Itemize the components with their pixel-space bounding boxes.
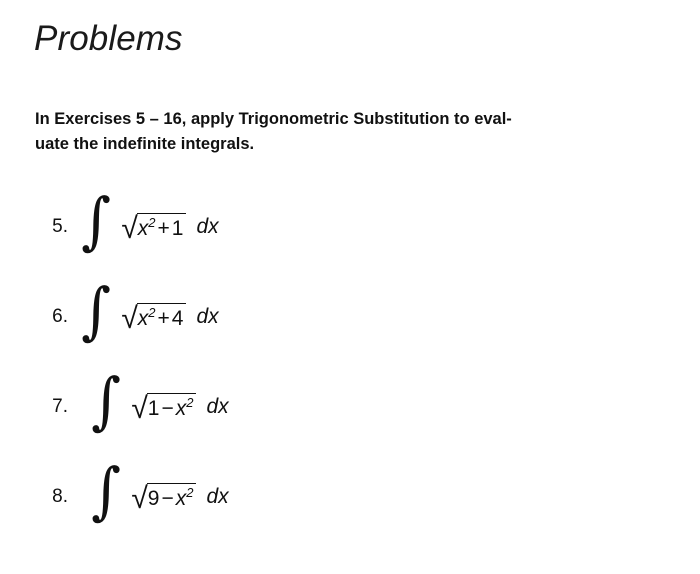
differential-dx: dx (196, 305, 218, 329)
radicand-term1-exponent: 2 (148, 305, 155, 320)
problem-number: 8. (38, 466, 68, 508)
radicand-operator: + (156, 307, 172, 330)
square-root-icon: √ (121, 304, 137, 334)
radicand-operator: + (156, 217, 172, 240)
problem-item: 6. ∫ √ x2+4 dx (0, 286, 700, 376)
problem-item: 8. ∫ √ 9−x2 dx (0, 466, 700, 556)
math-expression: ∫ √ x2+1 dx (80, 196, 219, 247)
radical-group: √ 9−x2 (131, 483, 196, 513)
integral-sign-icon: ∫ (91, 466, 121, 517)
problem-number: 7. (38, 376, 68, 418)
instructions-line-1: In Exercises 5 – 16, apply Trigonometric… (35, 107, 653, 132)
radicand: x2+1 (137, 213, 187, 243)
integral-sign-icon: ∫ (81, 286, 111, 337)
differential-dx: dx (206, 395, 228, 419)
differential-dx: dx (196, 215, 218, 239)
radicand-operator: − (159, 397, 175, 420)
radicand-term1-base: 1 (148, 397, 160, 420)
radicand-term2: 4 (172, 307, 184, 330)
problem-number: 6. (38, 286, 68, 328)
integral-sign-icon: ∫ (91, 376, 121, 427)
radicand: 9−x2 (147, 483, 197, 513)
math-expression: ∫ √ x2+4 dx (80, 286, 219, 337)
radical-group: √ x2+4 (121, 303, 186, 333)
radicand: x2+4 (137, 303, 187, 333)
radicand: 1−x2 (147, 393, 197, 423)
radicand-term1-base: x (138, 217, 149, 240)
document-page: Problems In Exercises 5 – 16, apply Trig… (0, 0, 700, 574)
radical-group: √ x2+1 (121, 213, 186, 243)
radicand-operator: − (159, 487, 175, 510)
radicand-term2: x (176, 397, 187, 420)
instructions-line-2: uate the indefinite integrals. (35, 132, 653, 157)
radical-group: √ 1−x2 (131, 393, 196, 423)
problem-item: 5. ∫ √ x2+1 dx (0, 196, 700, 286)
integral-sign-icon: ∫ (81, 196, 111, 247)
problem-item: 7. ∫ √ 1−x2 dx (0, 376, 700, 466)
problem-number: 5. (38, 196, 68, 238)
math-expression: ∫ √ 9−x2 dx (90, 466, 229, 517)
radicand-term2-exponent: 2 (186, 395, 193, 410)
radicand-term1-base: 9 (148, 487, 160, 510)
radicand-term2-exponent: 2 (186, 485, 193, 500)
square-root-icon: √ (131, 484, 147, 514)
differential-dx: dx (206, 485, 228, 509)
radicand-term1-exponent: 2 (148, 215, 155, 230)
radicand-term2: x (176, 487, 187, 510)
radicand-term2: 1 (172, 217, 184, 240)
square-root-icon: √ (131, 394, 147, 424)
radicand-term1-base: x (138, 307, 149, 330)
page-title: Problems (34, 18, 183, 60)
square-root-icon: √ (121, 214, 137, 244)
instructions-paragraph: In Exercises 5 – 16, apply Trigonometric… (35, 107, 653, 157)
math-expression: ∫ √ 1−x2 dx (90, 376, 229, 427)
problem-list: 5. ∫ √ x2+1 dx 6. ∫ √ x2+4 (0, 196, 700, 556)
